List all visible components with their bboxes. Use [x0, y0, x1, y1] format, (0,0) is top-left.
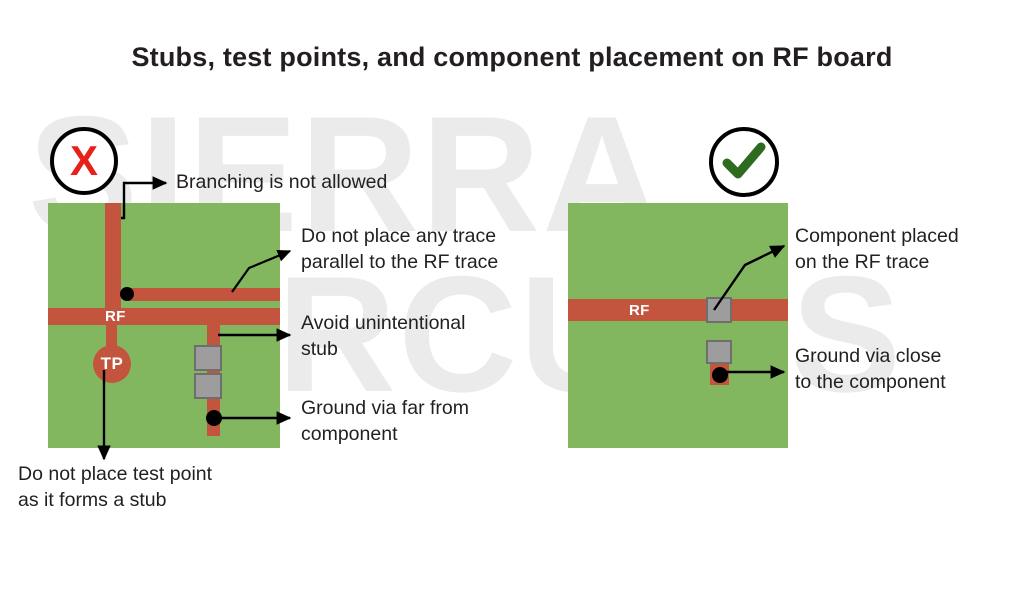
- branch-trace-vertical: [105, 203, 121, 313]
- note-component-on-trace: Component placed on the RF trace: [795, 224, 959, 275]
- check-badge: [709, 127, 779, 197]
- cross-badge: X: [50, 127, 118, 195]
- component-pad-lower: [194, 373, 222, 399]
- ground-via-close: [712, 367, 728, 383]
- rf-trace-label-right: RF: [629, 302, 650, 319]
- parallel-trace: [128, 288, 280, 301]
- check-icon: [722, 142, 766, 182]
- note-test-point: Do not place test point as it forms a st…: [18, 462, 212, 513]
- cross-icon: X: [70, 140, 98, 182]
- component-pad-ground: [706, 340, 732, 364]
- board-incorrect: TP RF: [48, 203, 280, 448]
- component-on-rf-trace: [706, 297, 732, 323]
- note-stub: Avoid unintentional stub: [301, 311, 465, 362]
- test-point-marker: TP: [93, 345, 131, 383]
- board-correct: RF: [568, 203, 788, 448]
- ground-via-far: [206, 410, 222, 426]
- page-title: Stubs, test points, and component placem…: [0, 42, 1024, 73]
- note-branching: Branching is not allowed: [176, 170, 387, 196]
- note-ground-via-close: Ground via close to the component: [795, 344, 946, 395]
- rf-trace-main: [48, 308, 280, 325]
- note-ground-via-far: Ground via far from component: [301, 396, 469, 447]
- rf-trace-main-right: [568, 299, 788, 321]
- rf-trace-label-left: RF: [105, 308, 126, 325]
- component-pad-upper: [194, 345, 222, 371]
- note-parallel-trace: Do not place any trace parallel to the R…: [301, 224, 498, 275]
- via-parallel-trace: [120, 287, 134, 301]
- diagram-canvas: SIERRA CIRCUITS Stubs, test points, and …: [0, 0, 1024, 590]
